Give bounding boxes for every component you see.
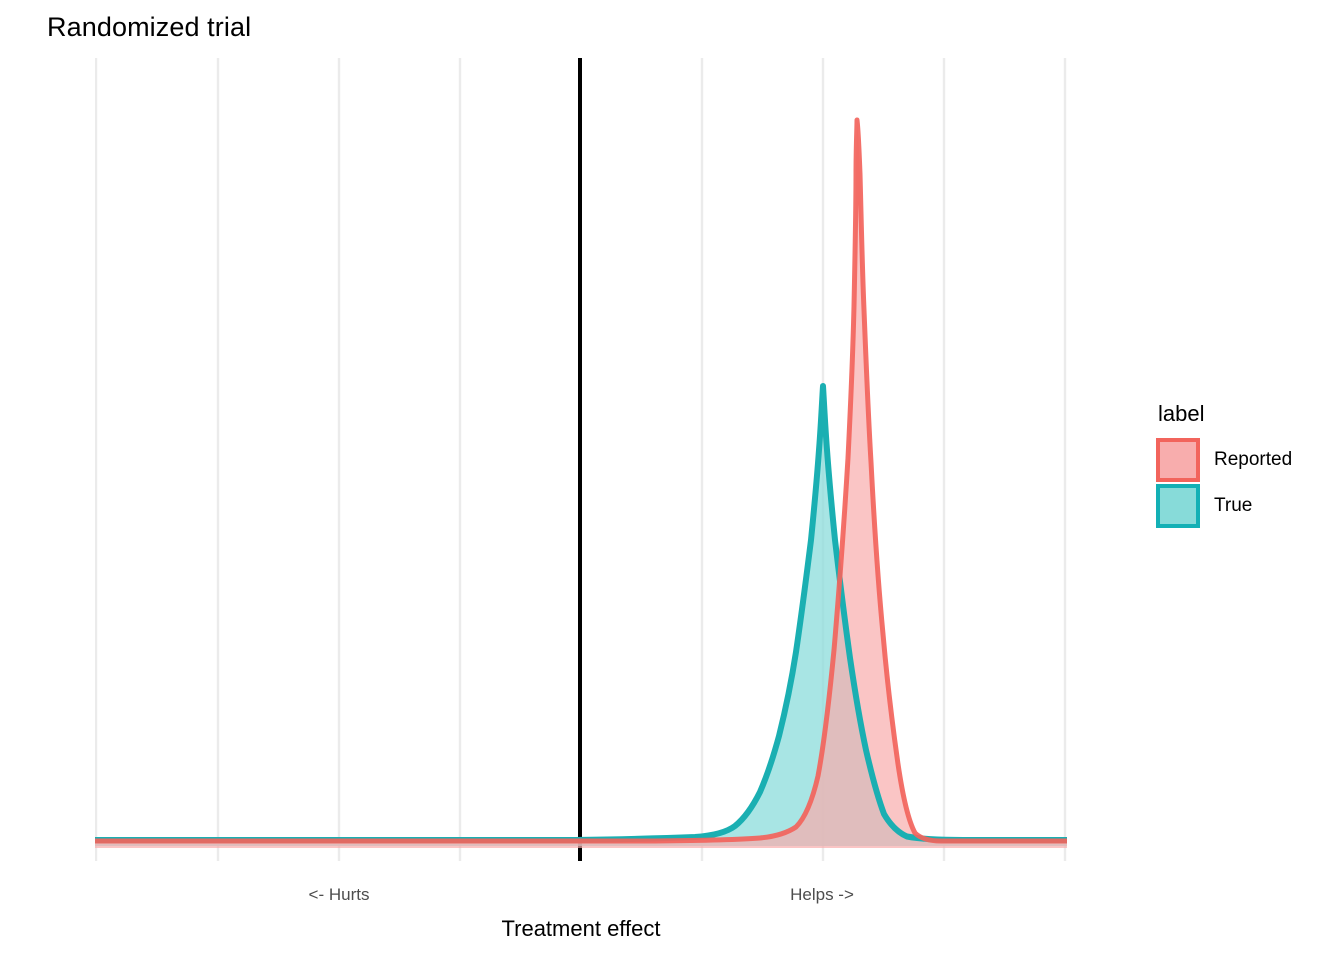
x-axis-tick-labels: <- Hurts Helps ->	[95, 884, 1067, 908]
legend-label-reported: Reported	[1214, 448, 1292, 472]
x-tick-label-hurts: <- Hurts	[309, 884, 370, 906]
legend-label-true: True	[1214, 494, 1252, 518]
legend-title: label	[1158, 400, 1336, 428]
legend-swatch-reported	[1156, 438, 1200, 482]
legend-swatch-true	[1156, 484, 1200, 528]
chart-figure: Randomized trial	[0, 0, 1344, 960]
legend-entry-reported[interactable]: Reported	[1156, 437, 1336, 483]
legend-entry-true[interactable]: True	[1156, 483, 1336, 529]
plot-panel	[95, 58, 1067, 861]
x-axis-title: Treatment effect	[95, 914, 1067, 944]
x-tick-label-helps: Helps ->	[790, 884, 854, 906]
legend: label Reported True	[1156, 400, 1336, 529]
page-title: Randomized trial	[47, 10, 251, 44]
density-plot-svg	[95, 58, 1067, 861]
